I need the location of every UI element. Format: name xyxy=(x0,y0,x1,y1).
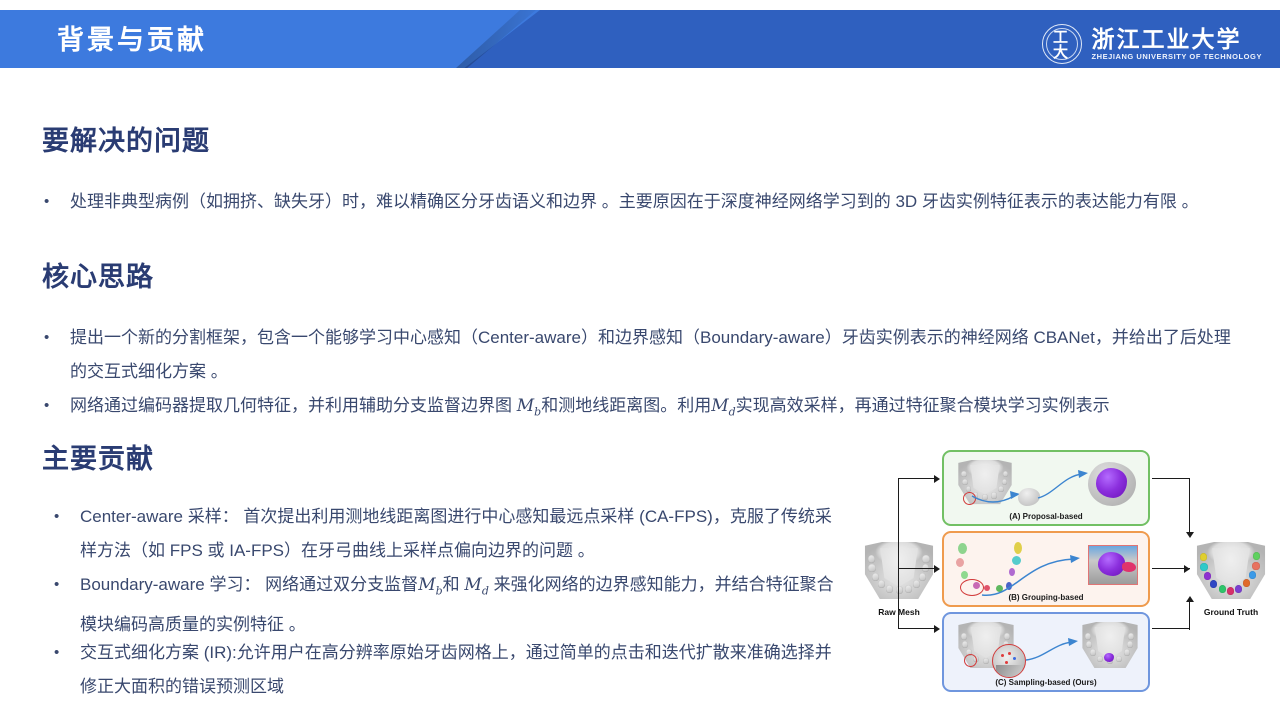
ground-truth-teeth-arc xyxy=(1198,548,1263,598)
gt-tooth xyxy=(1227,587,1234,595)
bullet-text: Boundary-aware 学习： 网络通过双分支监督Mb和 Md 来强化网络… xyxy=(80,568,844,642)
bullet-text: Center-aware 采样： 首次提出利用测地线距离图进行中心感知最远点采样… xyxy=(80,500,844,568)
bus-line-vertical-right-top xyxy=(1189,478,1190,534)
arrow-head-panel-b xyxy=(934,565,940,573)
ground-truth-label: Ground Truth xyxy=(1194,608,1268,617)
bullet-text: 处理非典型病例（如拥挤、缺失牙）时，难以精确区分牙齿语义和边界 。主要原因在于深… xyxy=(70,185,1244,219)
logo-text-block: 浙江工业大学 ZHEJIANG UNIVERSITY OF TECHNOLOGY xyxy=(1091,28,1262,61)
panel-b-zoom-thumbnail xyxy=(1088,545,1138,585)
math-symbol-mb: Mb xyxy=(517,396,541,416)
bullet-text-part: Boundary-aware 学习： 网络通过双分支监督 xyxy=(80,575,418,594)
gt-tooth xyxy=(1252,562,1259,570)
bullet-text-part: 网络通过编码器提取几何特征，并利用辅助分支监督边界图 xyxy=(70,396,517,415)
gt-tooth xyxy=(1219,585,1226,593)
bus-line-to-panel-a xyxy=(898,478,936,479)
bullet-marker: • xyxy=(54,636,80,670)
ground-truth-mesh xyxy=(1194,542,1268,604)
pipeline-figure: Raw Mesh xyxy=(862,450,1268,706)
bullet-text-part: 和 xyxy=(443,575,465,594)
bullet-text: 网络通过编码器提取几何特征，并利用辅助分支监督边界图 Mb和测地线距离图。利用M… xyxy=(70,389,1254,429)
logo-name-cn: 浙江工业大学 xyxy=(1091,28,1262,51)
bus-line-vertical-left xyxy=(898,478,899,628)
math-symbol-mb: Mb xyxy=(418,575,442,595)
gt-tooth xyxy=(1249,571,1256,579)
panel-a-proposal-result xyxy=(1088,462,1136,506)
bus-line-from-panel-c xyxy=(1152,628,1190,629)
bullet-contribution-2: • Boundary-aware 学习： 网络通过双分支监督Mb和 Md 来强化… xyxy=(54,568,844,642)
bullet-text-part: 实现高效采样，再通过特征聚合模块学习实例表示 xyxy=(736,396,1110,415)
arrow-head-panel-c xyxy=(934,625,940,633)
panel-c-result-mesh xyxy=(1080,622,1140,672)
panel-proposal-based: (A) Proposal-based xyxy=(942,450,1150,526)
panel-sampling-based: (C) Sampling-based (Ours) xyxy=(942,612,1150,692)
page-title: 背景与贡献 xyxy=(57,27,207,54)
arrow-head-gt-middle xyxy=(1184,565,1190,573)
panel-b-adjacent-tooth xyxy=(1122,562,1136,572)
bullet-marker: • xyxy=(54,568,80,602)
bullet-marker: • xyxy=(44,389,70,423)
bullet-text-part: 和测地线距离图。利用 xyxy=(541,396,711,415)
gt-tooth xyxy=(1235,585,1242,593)
bullet-marker: • xyxy=(44,185,70,219)
panel-c-curve xyxy=(1024,636,1086,664)
bullet-idea-1: • 提出一个新的分割框架，包含一个能够学习中心感知（Center-aware）和… xyxy=(44,321,1244,389)
panel-c-zoom-bubble xyxy=(992,644,1026,678)
panel-b-caption: (B) Grouping-based xyxy=(944,594,1148,602)
panel-c-segmented-tooth xyxy=(1104,653,1114,662)
bullet-marker: • xyxy=(44,321,70,355)
bus-line-to-panel-b xyxy=(898,568,936,569)
panel-a-segmented-region xyxy=(1096,468,1128,498)
bullet-contribution-3: • 交互式细化方案 (IR):允许用户在高分辨率原始牙齿网格上，通过简单的点击和… xyxy=(54,636,844,704)
bus-line-to-panel-c xyxy=(898,628,936,629)
gt-tooth xyxy=(1243,579,1250,587)
bullet-contribution-1: • Center-aware 采样： 首次提出利用测地线距离图进行中心感知最远点… xyxy=(54,500,844,568)
panel-a-caption: (A) Proposal-based xyxy=(944,513,1148,521)
math-symbol-md: Md xyxy=(464,575,488,595)
seal-mark-text: 工大 xyxy=(1053,30,1072,60)
bullet-text: 提出一个新的分割框架，包含一个能够学习中心感知（Center-aware）和边界… xyxy=(70,321,1244,389)
gt-tooth xyxy=(1200,553,1207,561)
gt-tooth xyxy=(1204,572,1211,580)
panel-a-curve-2 xyxy=(1036,468,1094,504)
bullet-marker: • xyxy=(54,500,80,534)
bullet-text: 交互式细化方案 (IR):允许用户在高分辨率原始牙齿网格上，通过简单的点击和迭代… xyxy=(80,636,844,704)
slide-header: 背景与贡献 工大 浙江工业大学 ZHEJIANG UNIVERSITY OF T… xyxy=(0,10,1280,68)
university-logo: 工大 浙江工业大学 ZHEJIANG UNIVERSITY OF TECHNOL… xyxy=(1042,21,1262,67)
bus-line-vertical-right-bottom xyxy=(1189,600,1190,630)
panel-b-merged-teeth xyxy=(1098,552,1125,576)
panel-c-caption: (C) Sampling-based (Ours) xyxy=(944,679,1148,687)
arrow-head-panel-a xyxy=(934,475,940,483)
panel-a-curve-1 xyxy=(970,484,1024,506)
bullet-problem-1: • 处理非典型病例（如拥挤、缺失牙）时，难以精确区分牙齿语义和边界 。主要原因在… xyxy=(44,185,1244,219)
section-heading-problem: 要解决的问题 xyxy=(42,128,210,155)
arrow-head-gt-bottom xyxy=(1186,596,1194,602)
gt-tooth xyxy=(1200,563,1207,571)
slide-body: 要解决的问题 • 处理非典型病例（如拥挤、缺失牙）时，难以精确区分牙齿语义和边界… xyxy=(0,68,1280,720)
arrow-head-gt-top xyxy=(1186,532,1194,538)
gt-tooth xyxy=(1253,552,1260,560)
panel-c-highlight-circle xyxy=(964,654,977,667)
section-heading-idea: 核心思路 xyxy=(42,264,154,291)
section-heading-contributions: 主要贡献 xyxy=(42,446,154,473)
math-symbol-md: Md xyxy=(711,396,735,416)
bus-line-from-panel-a xyxy=(1152,478,1190,479)
gt-tooth xyxy=(1210,580,1217,588)
panel-grouping-based: (B) Grouping-based xyxy=(942,531,1150,607)
logo-name-en: ZHEJIANG UNIVERSITY OF TECHNOLOGY xyxy=(1091,53,1262,61)
university-seal-icon: 工大 xyxy=(1042,24,1082,64)
panel-b-curve xyxy=(980,551,1088,599)
bullet-idea-2: • 网络通过编码器提取几何特征，并利用辅助分支监督边界图 Mb和测地线距离图。利… xyxy=(44,389,1254,429)
